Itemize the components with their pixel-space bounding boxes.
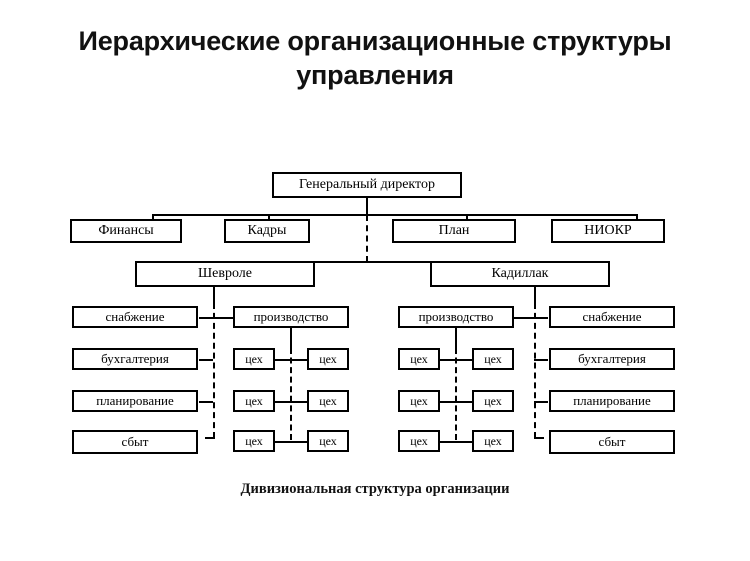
- node-staff-niokr[interactable]: НИОКР: [551, 219, 665, 243]
- node-right-shop-1[interactable]: цех: [398, 348, 440, 370]
- connector-right-shop-row3: [440, 441, 472, 443]
- node-right-shop-6[interactable]: цех: [472, 430, 514, 452]
- connector-left-production-stem: [290, 328, 292, 350]
- connector-stub-left-planirovanie: [199, 401, 213, 403]
- node-right-proizvodstvo[interactable]: производство: [398, 306, 514, 328]
- node-left-shop-3[interactable]: цех: [233, 390, 275, 412]
- node-left-shop-4[interactable]: цех: [307, 390, 349, 412]
- node-ceo[interactable]: Генеральный директор: [272, 172, 462, 198]
- node-staff-plan[interactable]: План: [392, 219, 516, 243]
- node-division-cadillac[interactable]: Кадиллак: [430, 261, 610, 287]
- node-left-proizvodstvo[interactable]: производство: [233, 306, 349, 328]
- node-division-chevrolet[interactable]: Шевроле: [135, 261, 315, 287]
- connector-stub-left-proizvodstvo: [213, 317, 233, 319]
- connector-stub-right-buhgalteria: [534, 359, 548, 361]
- node-right-shop-3[interactable]: цех: [398, 390, 440, 412]
- connector-left-shop-row2: [275, 401, 307, 403]
- connector-stub-right-snabzhenie: [534, 317, 548, 319]
- node-left-shop-2[interactable]: цех: [307, 348, 349, 370]
- connector-staff-bus: [152, 214, 636, 216]
- node-right-shop-5[interactable]: цех: [398, 430, 440, 452]
- connector-stub-left-snabzhenie: [199, 317, 213, 319]
- connector-stub-right-planirovanie: [534, 401, 548, 403]
- diagram-caption: Дивизиональная структура организации: [45, 481, 705, 498]
- node-left-planirovanie[interactable]: планирование: [72, 390, 198, 412]
- node-staff-finansy[interactable]: Финансы: [70, 219, 182, 243]
- node-left-snabzhenie[interactable]: снабжение: [72, 306, 198, 328]
- node-left-shop-5[interactable]: цех: [233, 430, 275, 452]
- connector-right-shop-row2: [440, 401, 472, 403]
- node-right-snabzhenie[interactable]: снабжение: [549, 306, 675, 328]
- node-left-shop-1[interactable]: цех: [233, 348, 275, 370]
- node-right-shop-2[interactable]: цех: [472, 348, 514, 370]
- node-right-sbyt[interactable]: сбыт: [549, 430, 675, 454]
- connector-stub-right-proizvodstvo: [514, 317, 534, 319]
- org-chart-page: Иерархические организационные структуры …: [0, 0, 750, 561]
- node-left-buhgalteria[interactable]: бухгалтерия: [72, 348, 198, 370]
- node-left-sbyt[interactable]: сбыт: [72, 430, 198, 454]
- connector-right-function-spine-foot: [534, 437, 544, 439]
- connector-right-function-spine: [534, 303, 536, 438]
- connector-ceo-to-divisions: [366, 215, 368, 262]
- connector-left-shop-row3: [275, 441, 307, 443]
- connector-left-function-spine: [213, 303, 215, 438]
- connector-ceo-stem: [366, 198, 368, 215]
- node-staff-kadry[interactable]: Кадры: [224, 219, 310, 243]
- node-right-planirovanie[interactable]: планирование: [549, 390, 675, 412]
- node-left-shop-6[interactable]: цех: [307, 430, 349, 452]
- connector-left-shop-spine: [290, 348, 292, 440]
- connector-left-function-spine-foot: [205, 437, 215, 439]
- connector-right-shop-row1: [440, 359, 472, 361]
- connector-right-production-stem: [455, 328, 457, 350]
- node-right-shop-4[interactable]: цех: [472, 390, 514, 412]
- connector-right-shop-spine: [455, 348, 457, 440]
- connector-stub-left-buhgalteria: [199, 359, 213, 361]
- diagram-canvas: Генеральный директор Финансы Кадры План …: [0, 0, 750, 561]
- node-right-buhgalteria[interactable]: бухгалтерия: [549, 348, 675, 370]
- connector-left-shop-row1: [275, 359, 307, 361]
